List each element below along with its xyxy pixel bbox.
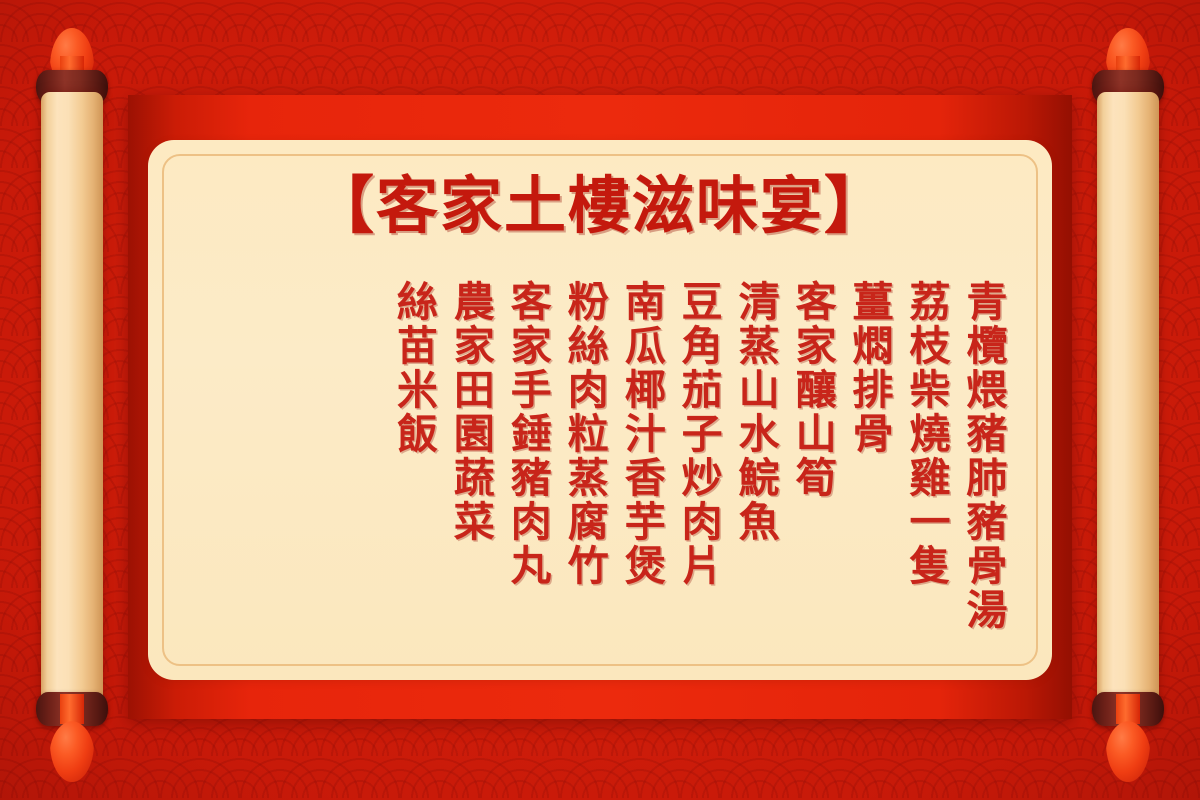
menu-dish-item-7: 南瓜椰汁香芋煲 [616,280,664,588]
scroll-knob-neck-bottom-left [60,694,84,724]
menu-dish-item-2: 荔枝柴燒雞一隻 [901,280,949,588]
menu-dish-list: 青欖煨豬肺豬骨湯 荔枝柴燒雞一隻 薑燜排骨 客家釀山筍 清蒸山水鯇魚 豆角茄子炒… [188,280,1012,654]
menu-dish-item-8: 粉絲肉粒蒸腐竹 [559,280,607,588]
menu-title: 【客家土樓滋味宴】 [148,176,1052,238]
scroll-knob-neck-bottom-right [1116,694,1140,724]
menu-poster: 【客家土樓滋味宴】 青欖煨豬肺豬骨湯 荔枝柴燒雞一隻 薑燜排骨 客家釀山筍 清蒸… [0,0,1200,800]
menu-dish-item-6: 豆角茄子炒肉片 [673,280,721,588]
scroll-rod-left [36,30,108,770]
menu-dish-item-10: 農家田園蔬菜 [445,280,493,544]
scroll-rod-body-right [1097,92,1159,708]
menu-dish-item-3: 薑燜排骨 [844,280,892,456]
menu-dish-item-11: 絲苗米飯 [388,280,436,456]
scroll-paper-panel: 【客家土樓滋味宴】 青欖煨豬肺豬骨湯 荔枝柴燒雞一隻 薑燜排骨 客家釀山筍 清蒸… [148,140,1052,680]
scroll-rod-body-left [41,92,103,708]
scroll-rod-right [1092,30,1164,770]
menu-dish-item-9: 客家手錘豬肉丸 [502,280,550,588]
menu-dish-item-1: 青欖煨豬肺豬骨湯 [958,280,1006,632]
menu-dish-item-4: 客家釀山筍 [787,280,835,500]
menu-dish-item-5: 清蒸山水鯇魚 [730,280,778,544]
